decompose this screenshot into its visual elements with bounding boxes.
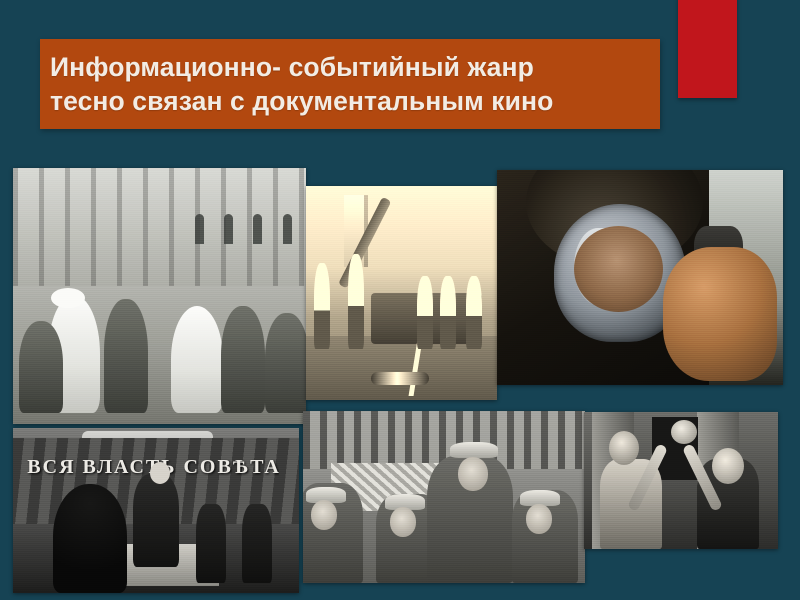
figure-lying-down (371, 372, 429, 385)
title-banner: Информационно- событийный жанр тесно свя… (40, 39, 660, 129)
photo-3-scene (497, 170, 783, 385)
figure-hat (51, 288, 85, 308)
slide-title: Информационно- событийный жанр тесно свя… (50, 50, 553, 119)
photo-clasped-hands: Два лидера с поднятыми сцепленными рукам… (584, 412, 778, 549)
figure-guard (196, 504, 226, 583)
red-accent-rectangle (678, 0, 737, 98)
photo-4-scene: ВСЯ ВЛАСТЬ СОВѢТАМЪ (13, 428, 299, 593)
presentation-slide: Информационно- событийный жанр тесно свя… (0, 0, 800, 600)
photo-1-scene (13, 168, 306, 424)
photo-leader-officers: Вождь в шинели и фуражке среди военных н… (303, 411, 585, 583)
photo-5-scene (303, 411, 585, 583)
photo-6-scene (584, 412, 778, 549)
gloved-hand (663, 247, 777, 380)
figure-protester (466, 276, 482, 349)
figure-guard (242, 504, 272, 583)
leader-face (458, 457, 488, 491)
head-right (712, 448, 744, 484)
crowd-row (13, 240, 306, 424)
figure-lady-white (171, 306, 223, 413)
helmet-visor-face (574, 226, 663, 312)
photo-cosmonaut: Космонавт в гермошлеме в кабине корабля (497, 170, 783, 385)
officer-face (526, 504, 552, 534)
photo-royal-procession: Императорская процессия — дамы в белых п… (13, 168, 306, 424)
photo-2-scene (306, 186, 497, 400)
figure-protester (440, 276, 456, 349)
figure-protester (314, 263, 330, 349)
leader-cap (450, 442, 498, 458)
figure-foreground-silhouette (53, 484, 127, 593)
figure-speaker (133, 474, 179, 566)
figure-officer (221, 306, 265, 413)
photo-leader-speech: ВСЯ ВЛАСТЬ СОВѢТАМЪ Выступление оратора … (13, 428, 299, 593)
figure-officer (19, 321, 63, 413)
photo-tank-protest: Танк и протестующие на улице, человек ле… (306, 186, 497, 400)
figure-officer (104, 299, 148, 413)
figure-officer (265, 313, 306, 413)
figure-protester (417, 276, 433, 349)
figure-protester (348, 254, 364, 348)
